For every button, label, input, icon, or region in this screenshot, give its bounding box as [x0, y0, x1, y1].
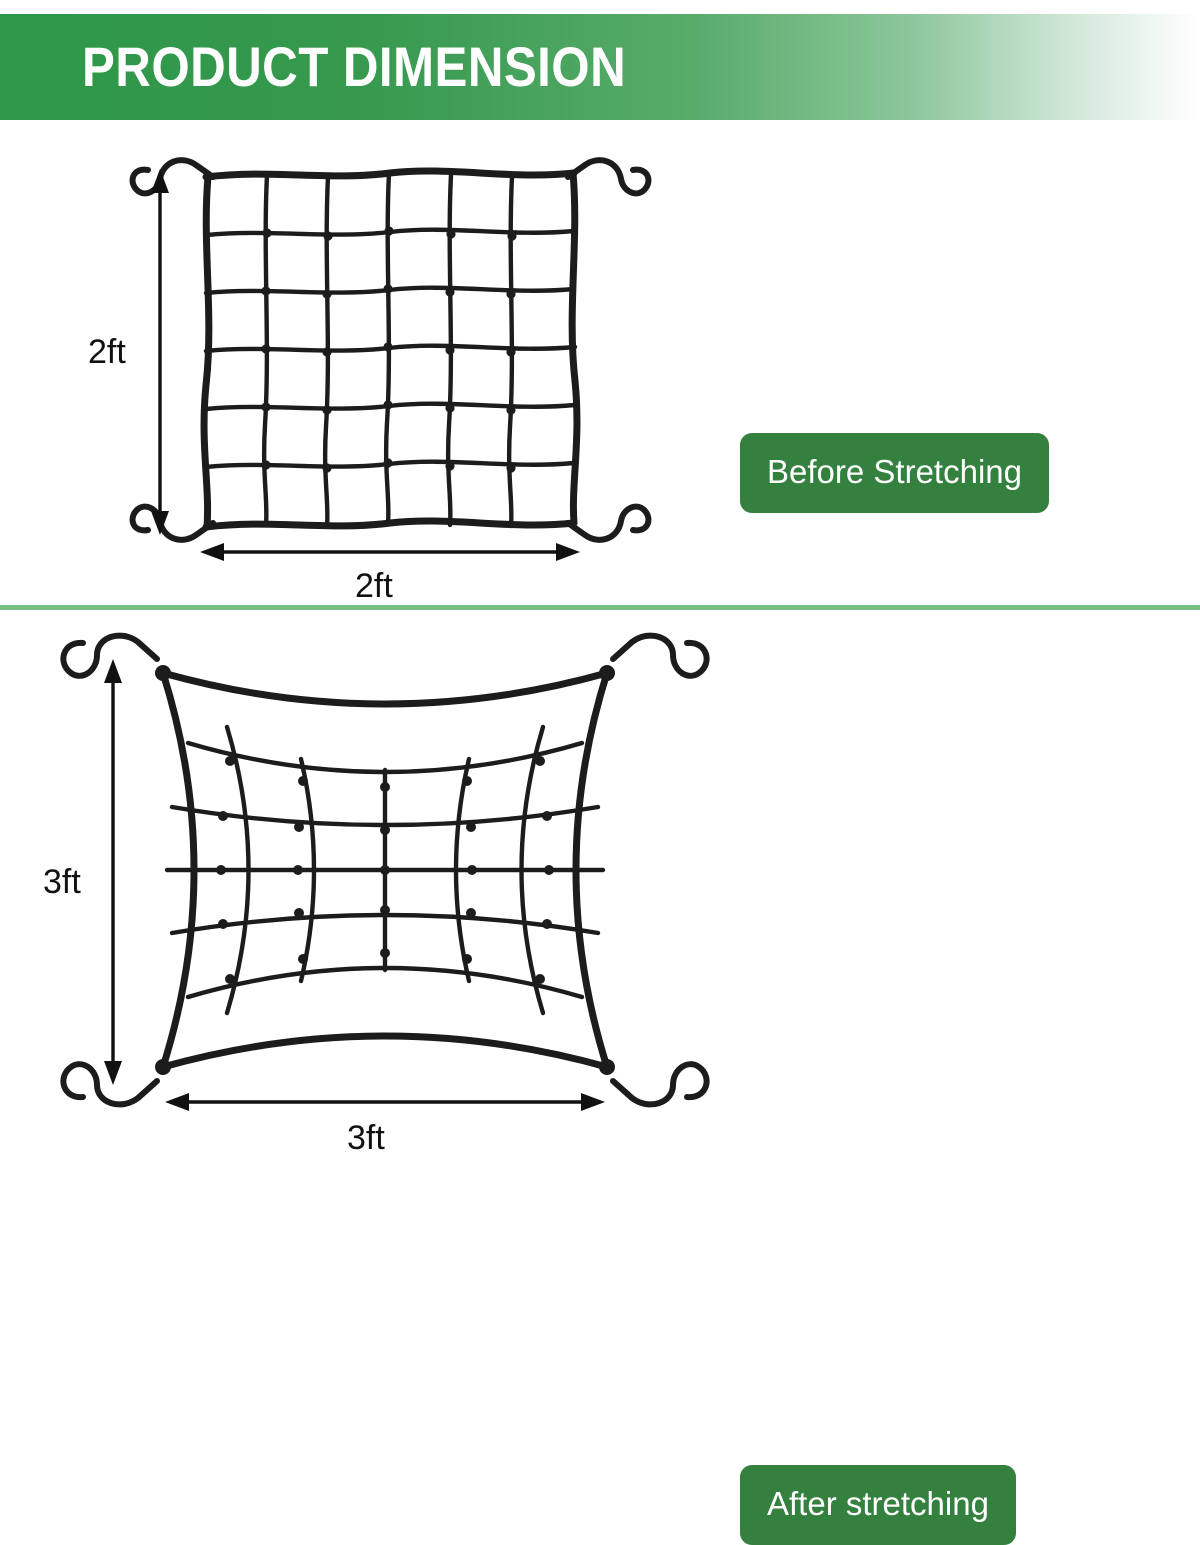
section-before-stretching: 2ft 2ft Before Stretching	[0, 120, 1200, 605]
dimension-label-width: 3ft	[347, 1119, 385, 1157]
dimension-arrow-horizontal	[200, 543, 580, 561]
section-after-stretching: 3ft 3ft After stretching	[0, 610, 1200, 1165]
net-stretched-svg: 3ft 3ft	[35, 615, 735, 1165]
hook-top-right-icon	[613, 636, 707, 676]
hook-bottom-right-icon	[613, 1064, 707, 1104]
figure-net-stretched: 3ft 3ft	[35, 615, 735, 1165]
hook-bottom-right-icon	[568, 507, 648, 540]
figure-net-unstretched: 2ft 2ft	[70, 125, 690, 605]
badge-before-stretching: Before Stretching	[740, 433, 1049, 513]
net-unstretched-svg: 2ft 2ft	[70, 125, 690, 605]
header-banner: PRODUCT DIMENSION	[0, 14, 1200, 120]
hook-top-right-icon	[568, 160, 648, 193]
page-title: PRODUCT DIMENSION	[82, 39, 626, 95]
net-mesh-unstretched	[204, 171, 577, 527]
net-mesh-stretched	[155, 665, 615, 1075]
dimension-arrow-horizontal	[165, 1093, 605, 1111]
badge-after-stretching: After stretching	[740, 1465, 1016, 1545]
hook-top-left-icon	[133, 160, 213, 193]
dimension-label-width: 2ft	[355, 567, 393, 605]
hook-bottom-left-icon	[133, 507, 213, 540]
dimension-arrow-vertical	[151, 169, 169, 535]
dimension-arrow-vertical	[104, 659, 122, 1085]
dimension-label-height: 2ft	[88, 333, 126, 371]
dimension-label-height: 3ft	[43, 863, 81, 901]
